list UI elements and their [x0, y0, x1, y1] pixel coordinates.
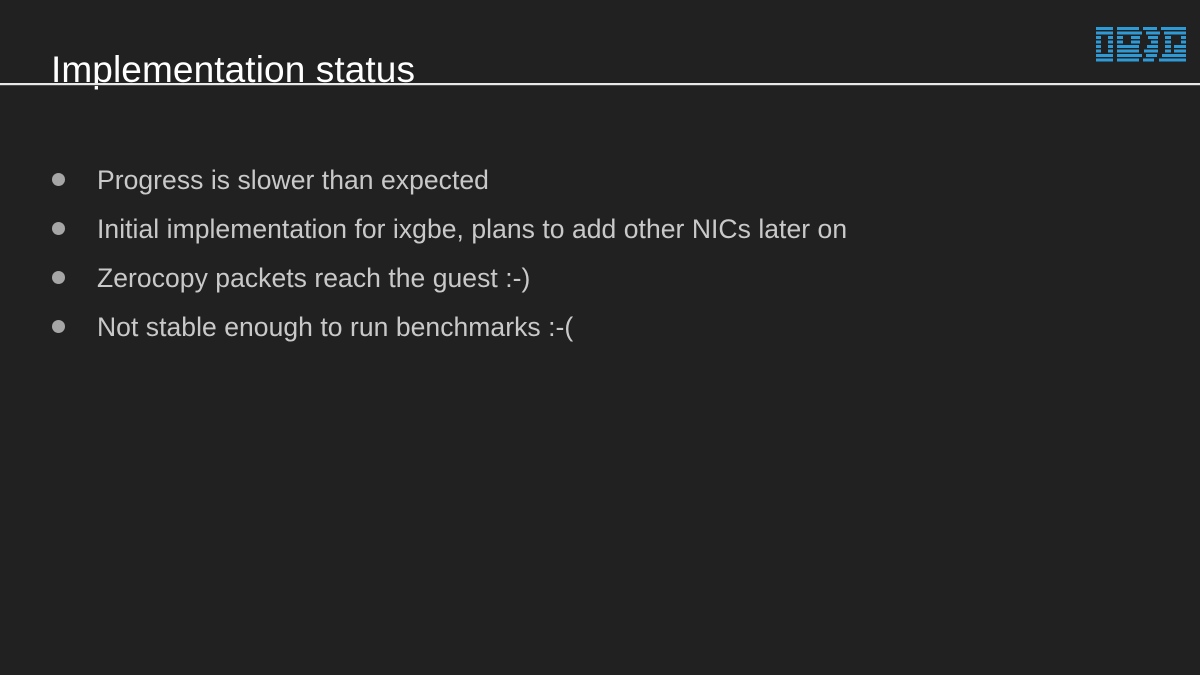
list-item: Progress is slower than expected — [52, 162, 1152, 211]
bullet-dot-icon — [52, 271, 65, 284]
bullet-text: Progress is slower than expected — [97, 162, 489, 198]
bullet-text: Initial implementation for ixgbe, plans … — [97, 211, 847, 247]
bullet-text: Zerocopy packets reach the guest :-) — [97, 260, 530, 296]
list-item: Not stable enough to run benchmarks :-( — [52, 309, 1152, 358]
list-item: Zerocopy packets reach the guest :-) — [52, 260, 1152, 309]
bullet-dot-icon — [52, 173, 65, 186]
slide-body: Progress is slower than expected Initial… — [0, 86, 1200, 675]
slide-header: Implementation status — [0, 0, 1200, 84]
ibm-logo-icon — [1096, 27, 1186, 63]
bullet-dot-icon — [52, 222, 65, 235]
bullet-text: Not stable enough to run benchmarks :-( — [97, 309, 573, 345]
presentation-slide: Implementation status — [0, 0, 1200, 675]
bullet-list: Progress is slower than expected Initial… — [52, 162, 1152, 358]
bullet-dot-icon — [52, 320, 65, 333]
list-item: Initial implementation for ixgbe, plans … — [52, 211, 1152, 260]
